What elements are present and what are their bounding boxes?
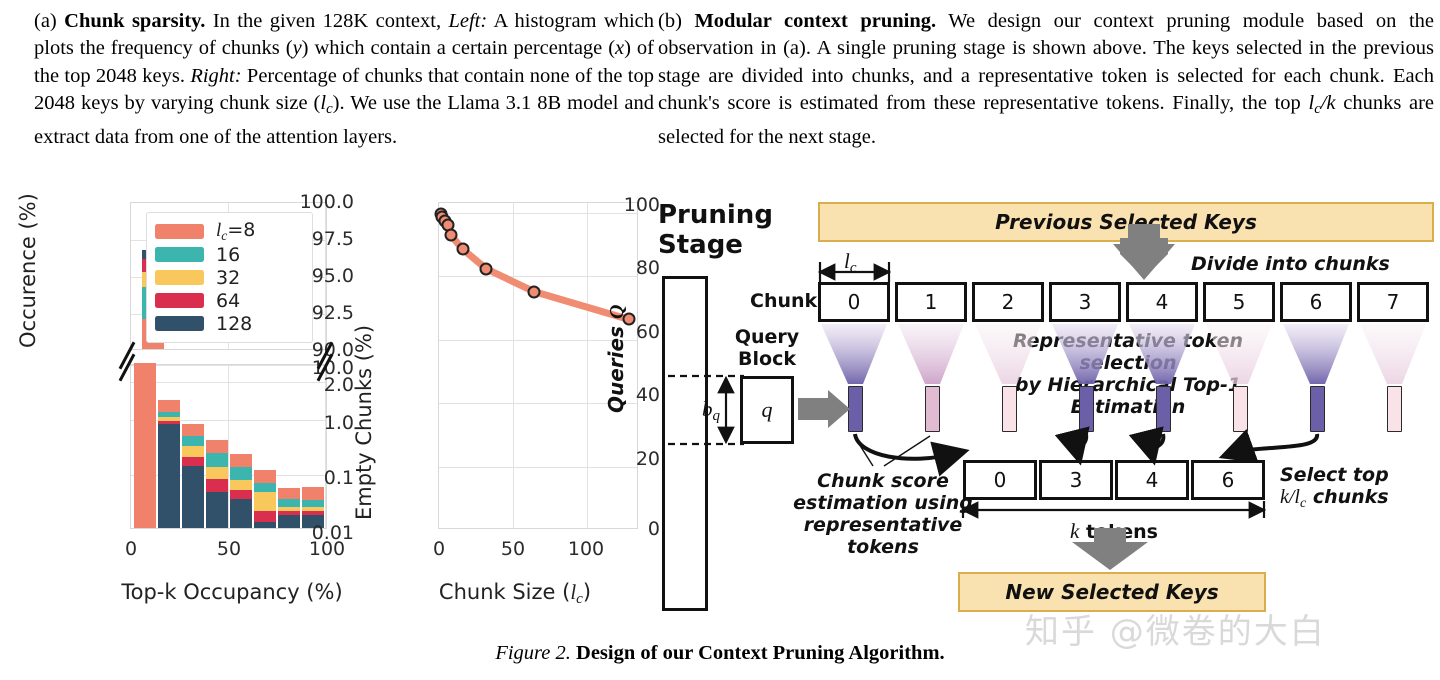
queries-label: Queries Q (604, 305, 629, 413)
line-ytick-20: 20 (588, 448, 660, 470)
legend-item-lc64: 64 (155, 289, 304, 312)
seg-lc32 (254, 492, 276, 511)
watermark: 知乎 @微卷的大白 (1025, 604, 1326, 653)
seg-lc128 (158, 424, 180, 528)
hist-ytick-0-1: 0.1 (264, 467, 354, 489)
legend-item-lc32: 32 (155, 266, 304, 289)
seg-lc8 (182, 424, 204, 436)
caption-a-em-left: Left: (448, 10, 487, 32)
hist-ytick-100: 100.0 (264, 191, 354, 213)
legend-label-lc16: 16 (216, 244, 240, 266)
seg-lc128 (182, 466, 204, 528)
seg-lc8 (278, 488, 300, 499)
legend-label-lc32: 32 (216, 267, 240, 289)
line-xtick-0: 0 (424, 538, 454, 560)
hist-bar-bin-0 (134, 363, 156, 528)
line-ytick-100: 100 (588, 194, 660, 216)
caption-a-tag: (a) (34, 10, 64, 32)
caption-a-em-right: Right: (190, 65, 241, 87)
caption-b-bold: Modular context pruning. (694, 10, 936, 32)
seg-lc16 (182, 436, 204, 446)
hist-x-axis-label: Top-k Occupancy (%) (82, 580, 382, 604)
legend-swatch-lc64 (155, 293, 204, 308)
hist-ytick-2: 2.0 (264, 374, 354, 396)
hist-xtick-100: 100 (306, 538, 348, 560)
hist-y-axis-label: Occurence (%) (16, 193, 40, 348)
line-point-32 (480, 262, 493, 275)
diagram-connectors (658, 198, 1434, 616)
line-xtick-50: 50 (497, 538, 529, 560)
seg-lc8 (206, 440, 228, 453)
seg-lc128 (206, 492, 228, 528)
hist-xtick-50: 50 (213, 538, 245, 560)
line-ytick-80: 80 (588, 257, 660, 279)
line-point-8 (444, 229, 457, 242)
legend-label-lc128: 128 (216, 313, 252, 335)
seg-lc16 (278, 499, 300, 507)
hist-bar-bin-4 (230, 454, 252, 528)
legend-item-lc8: lc=8 (155, 220, 304, 243)
seg-lc16 (206, 453, 228, 467)
legend-item-lc16: 16 (155, 243, 304, 266)
line-point-16 (456, 243, 469, 256)
seg-lc32 (206, 467, 228, 479)
caption-a: (a) Chunk sparsity. In the given 128K co… (34, 8, 654, 151)
seg-lc32 (182, 446, 204, 457)
caption-b-math-k: /k (1321, 92, 1336, 114)
caption-a-math-y: y (293, 37, 302, 59)
line-xtick-100: 100 (565, 538, 607, 560)
seg-lc8 (230, 454, 252, 467)
hist-bar-bin-1 (158, 400, 180, 528)
chunk-sparsity-histogram: Occurence (%) Top-k Occupancy (%) lc=8 (34, 198, 354, 618)
line-y-axis-label: Empty Chunks (%) (352, 325, 376, 520)
hist-bar-bin-3 (206, 440, 228, 528)
hist-legend: lc=8 16 32 64 128 (146, 212, 313, 343)
seg-lc64 (254, 511, 276, 522)
hist-ytick-1: 1.0 (264, 412, 354, 434)
seg-lc8 (158, 400, 180, 412)
figure-number: Figure 2. (495, 642, 571, 664)
caption-b-tag: (b) (658, 10, 694, 32)
legend-label-lc8: lc=8 (216, 219, 255, 244)
seg-lc64 (206, 479, 228, 492)
legend-swatch-lc8 (155, 224, 204, 239)
legend-swatch-lc32 (155, 270, 204, 285)
legend-label-lc64: 64 (216, 290, 240, 312)
seg-lc16 (302, 500, 324, 507)
line-point-64 (527, 285, 540, 298)
pruning-stage-diagram: Pruning Stage Queries Q Previous Selecte… (658, 198, 1434, 616)
legend-item-lc128: 128 (155, 312, 304, 335)
seg-lc64 (230, 490, 252, 499)
caption-b: (b) Modular context pruning. We design o… (658, 8, 1434, 151)
figure-caption-text: Design of our Context Pruning Algorithm. (571, 642, 945, 664)
seg-lc32 (230, 480, 252, 490)
seg-lc8 (134, 363, 156, 528)
axis-break-left (112, 348, 142, 374)
caption-a-bold: Chunk sparsity. (64, 10, 205, 32)
seg-lc128 (230, 499, 252, 528)
caption-a-math-x: x (615, 37, 624, 59)
caption-a-body-3: ) which contain a certain percentage ( (302, 37, 615, 59)
legend-swatch-lc128 (155, 316, 204, 331)
hist-bar-bin-2 (182, 424, 204, 528)
axis-break-right (310, 348, 340, 374)
seg-lc16 (230, 467, 252, 480)
hist-xtick-0: 0 (116, 538, 146, 560)
caption-a-body-1: In the given 128K context, (205, 10, 448, 32)
figure-page: (a) Chunk sparsity. In the given 128K co… (0, 0, 1440, 680)
legend-swatch-lc16 (155, 247, 204, 262)
seg-lc64 (182, 457, 204, 466)
line-x-axis-label: Chunk Size (lc) (380, 580, 650, 608)
line-ytick-0: 0 (588, 518, 660, 540)
